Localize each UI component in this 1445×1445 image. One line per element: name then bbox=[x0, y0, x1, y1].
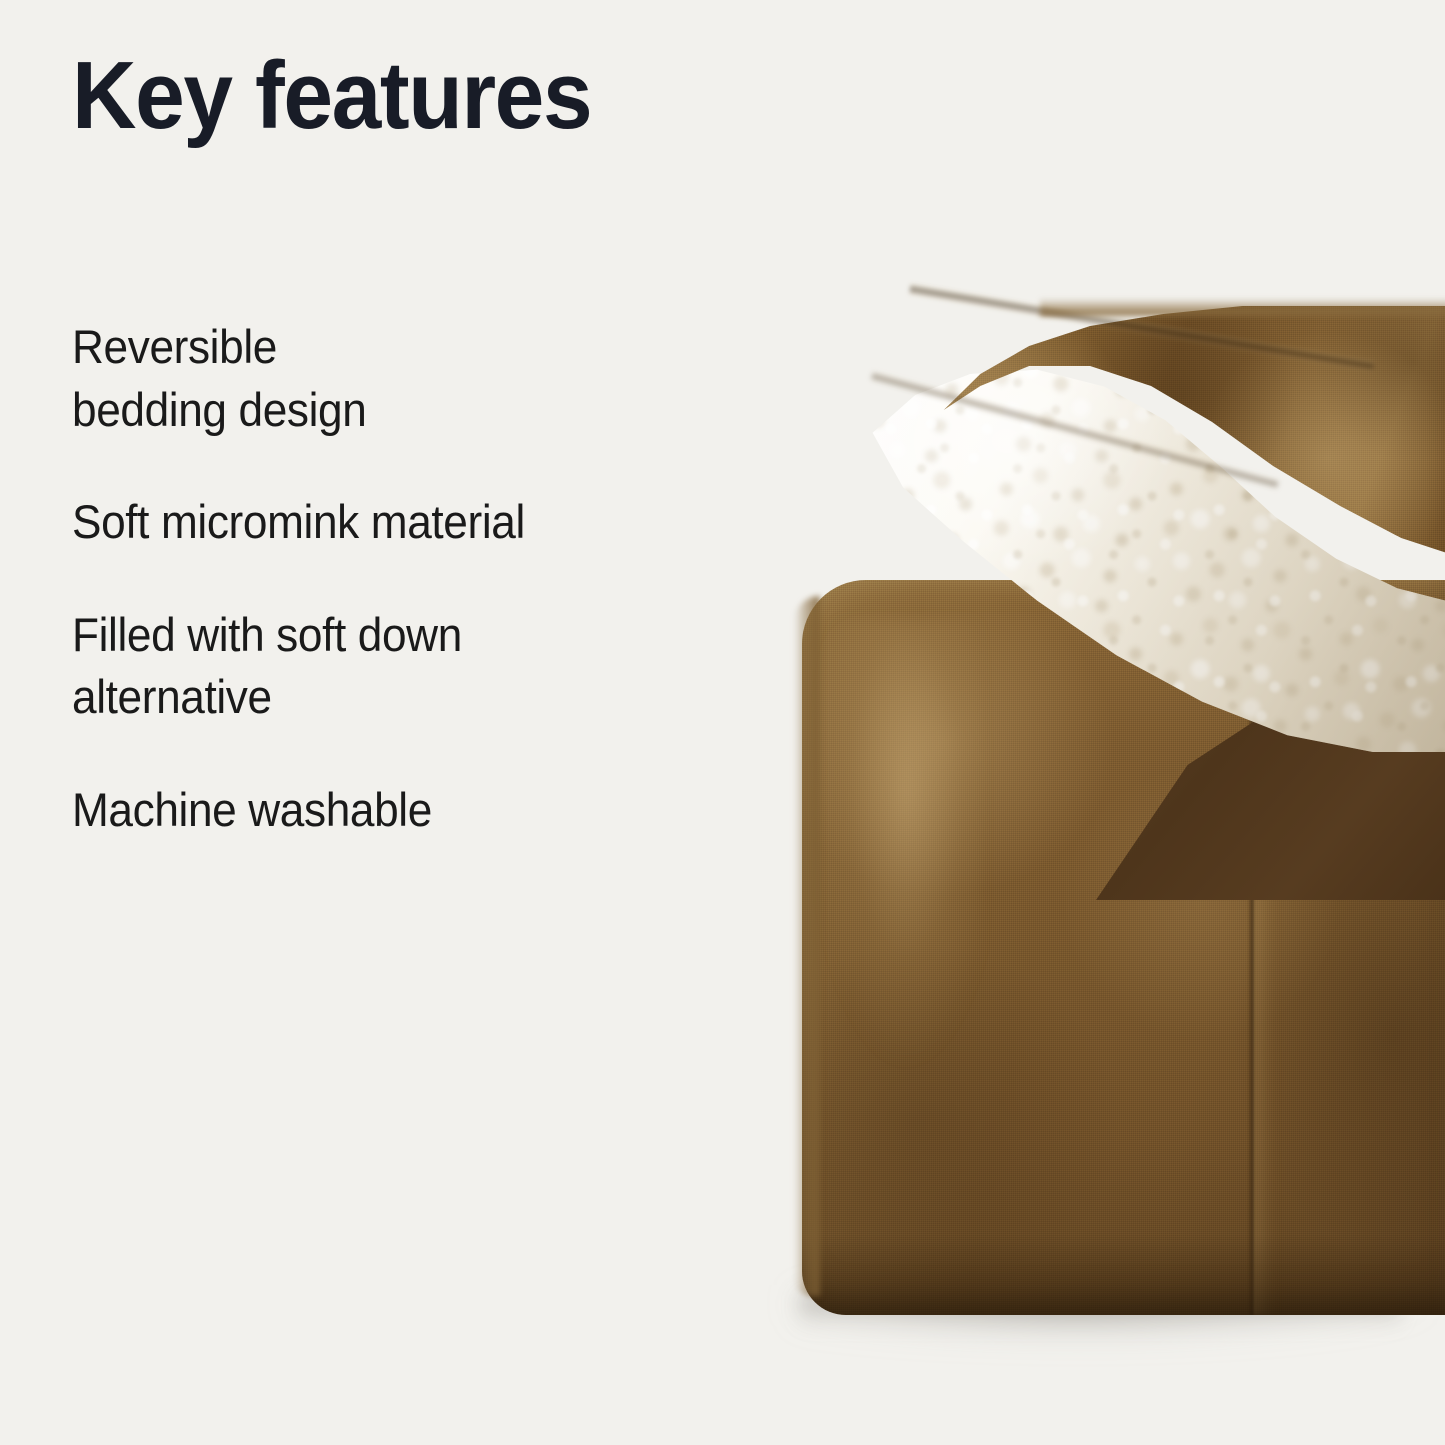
feature-item-filled-with-soft-down-alternative: Filled with soft down alternative bbox=[72, 604, 730, 729]
feature-item-machine-washable: Machine washable bbox=[72, 779, 730, 842]
infographic-canvas: Key features Reversible bedding design S… bbox=[0, 0, 1445, 1445]
folded-blanket bbox=[740, 250, 1445, 1445]
product-photo bbox=[740, 250, 1445, 1150]
micromink-left-fuzz-edge bbox=[794, 596, 820, 1296]
page-title: Key features bbox=[72, 48, 591, 144]
blanket-left-bulge-highlight bbox=[802, 620, 982, 1280]
features-text-column: Key features Reversible bedding design S… bbox=[72, 0, 772, 1445]
feature-item-soft-micromink-material: Soft micromink material bbox=[72, 491, 730, 554]
micromink-top-fuzz-edge bbox=[1040, 298, 1445, 316]
blanket-bottom-shading bbox=[802, 1235, 1445, 1315]
feature-item-reversible-bedding-design: Reversible bedding design bbox=[72, 316, 730, 441]
key-features-list: Reversible bedding design Soft micromink… bbox=[72, 316, 772, 841]
